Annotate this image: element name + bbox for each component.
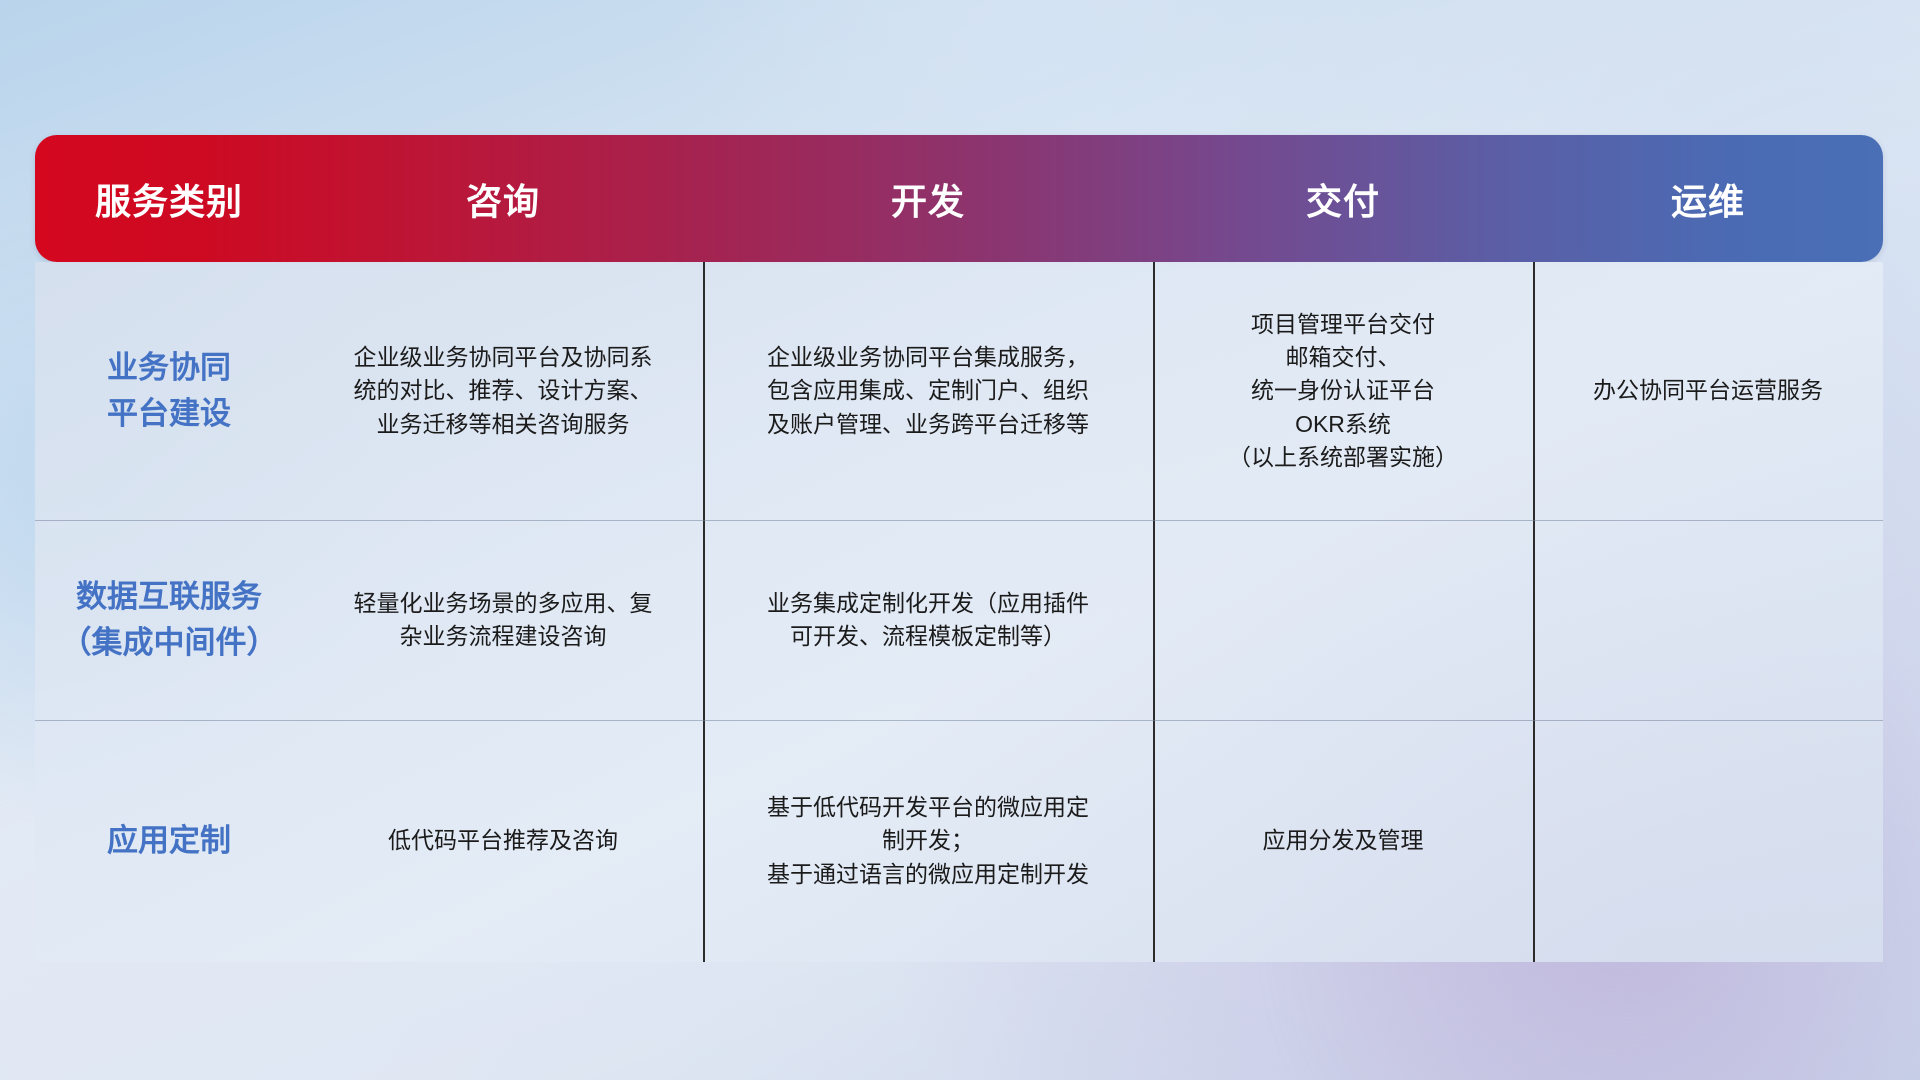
row-category-label: 应用定制 <box>35 720 303 962</box>
cell-delivery <box>1153 520 1533 720</box>
table-row: 数据互联服务 （集成中间件） 轻量化业务场景的多应用、复 杂业务流程建设咨询 业… <box>35 520 1883 720</box>
column-header-consulting: 咨询 <box>303 173 703 225</box>
row-category-label: 数据互联服务 （集成中间件） <box>35 520 303 720</box>
cell-consulting: 企业级业务协同平台及协同系 统的对比、推荐、设计方案、 业务迁移等相关咨询服务 <box>303 262 703 520</box>
table-body: 业务协同 平台建设 企业级业务协同平台及协同系 统的对比、推荐、设计方案、 业务… <box>35 262 1883 962</box>
column-header-service-category: 服务类别 <box>35 173 303 225</box>
table-header-row: 服务类别 咨询 开发 交付 运维 <box>35 135 1883 262</box>
cell-operations: 办公协同平台运营服务 <box>1533 262 1883 520</box>
row-category-label: 业务协同 平台建设 <box>35 262 303 520</box>
column-header-delivery: 交付 <box>1153 173 1533 225</box>
cell-consulting: 低代码平台推荐及咨询 <box>303 720 703 962</box>
column-header-operations: 运维 <box>1533 173 1883 225</box>
cell-delivery: 应用分发及管理 <box>1153 720 1533 962</box>
cell-development: 基于低代码开发平台的微应用定 制开发； 基于通过语言的微应用定制开发 <box>703 720 1153 962</box>
cell-delivery: 项目管理平台交付 邮箱交付、 统一身份认证平台 OKR系统 （以上系统部署实施） <box>1153 262 1533 520</box>
table-row: 应用定制 低代码平台推荐及咨询 基于低代码开发平台的微应用定 制开发； 基于通过… <box>35 720 1883 962</box>
cell-consulting: 轻量化业务场景的多应用、复 杂业务流程建设咨询 <box>303 520 703 720</box>
table-row: 业务协同 平台建设 企业级业务协同平台及协同系 统的对比、推荐、设计方案、 业务… <box>35 262 1883 520</box>
cell-operations <box>1533 520 1883 720</box>
cell-development: 业务集成定制化开发（应用插件 可开发、流程模板定制等） <box>703 520 1153 720</box>
service-matrix-table: 服务类别 咨询 开发 交付 运维 业务协同 平台建设 企业级业务协同平台及协同系… <box>35 135 1883 965</box>
cell-operations <box>1533 720 1883 962</box>
cell-development: 企业级业务协同平台集成服务， 包含应用集成、定制门户、组织 及账户管理、业务跨平… <box>703 262 1153 520</box>
column-header-development: 开发 <box>703 173 1153 225</box>
